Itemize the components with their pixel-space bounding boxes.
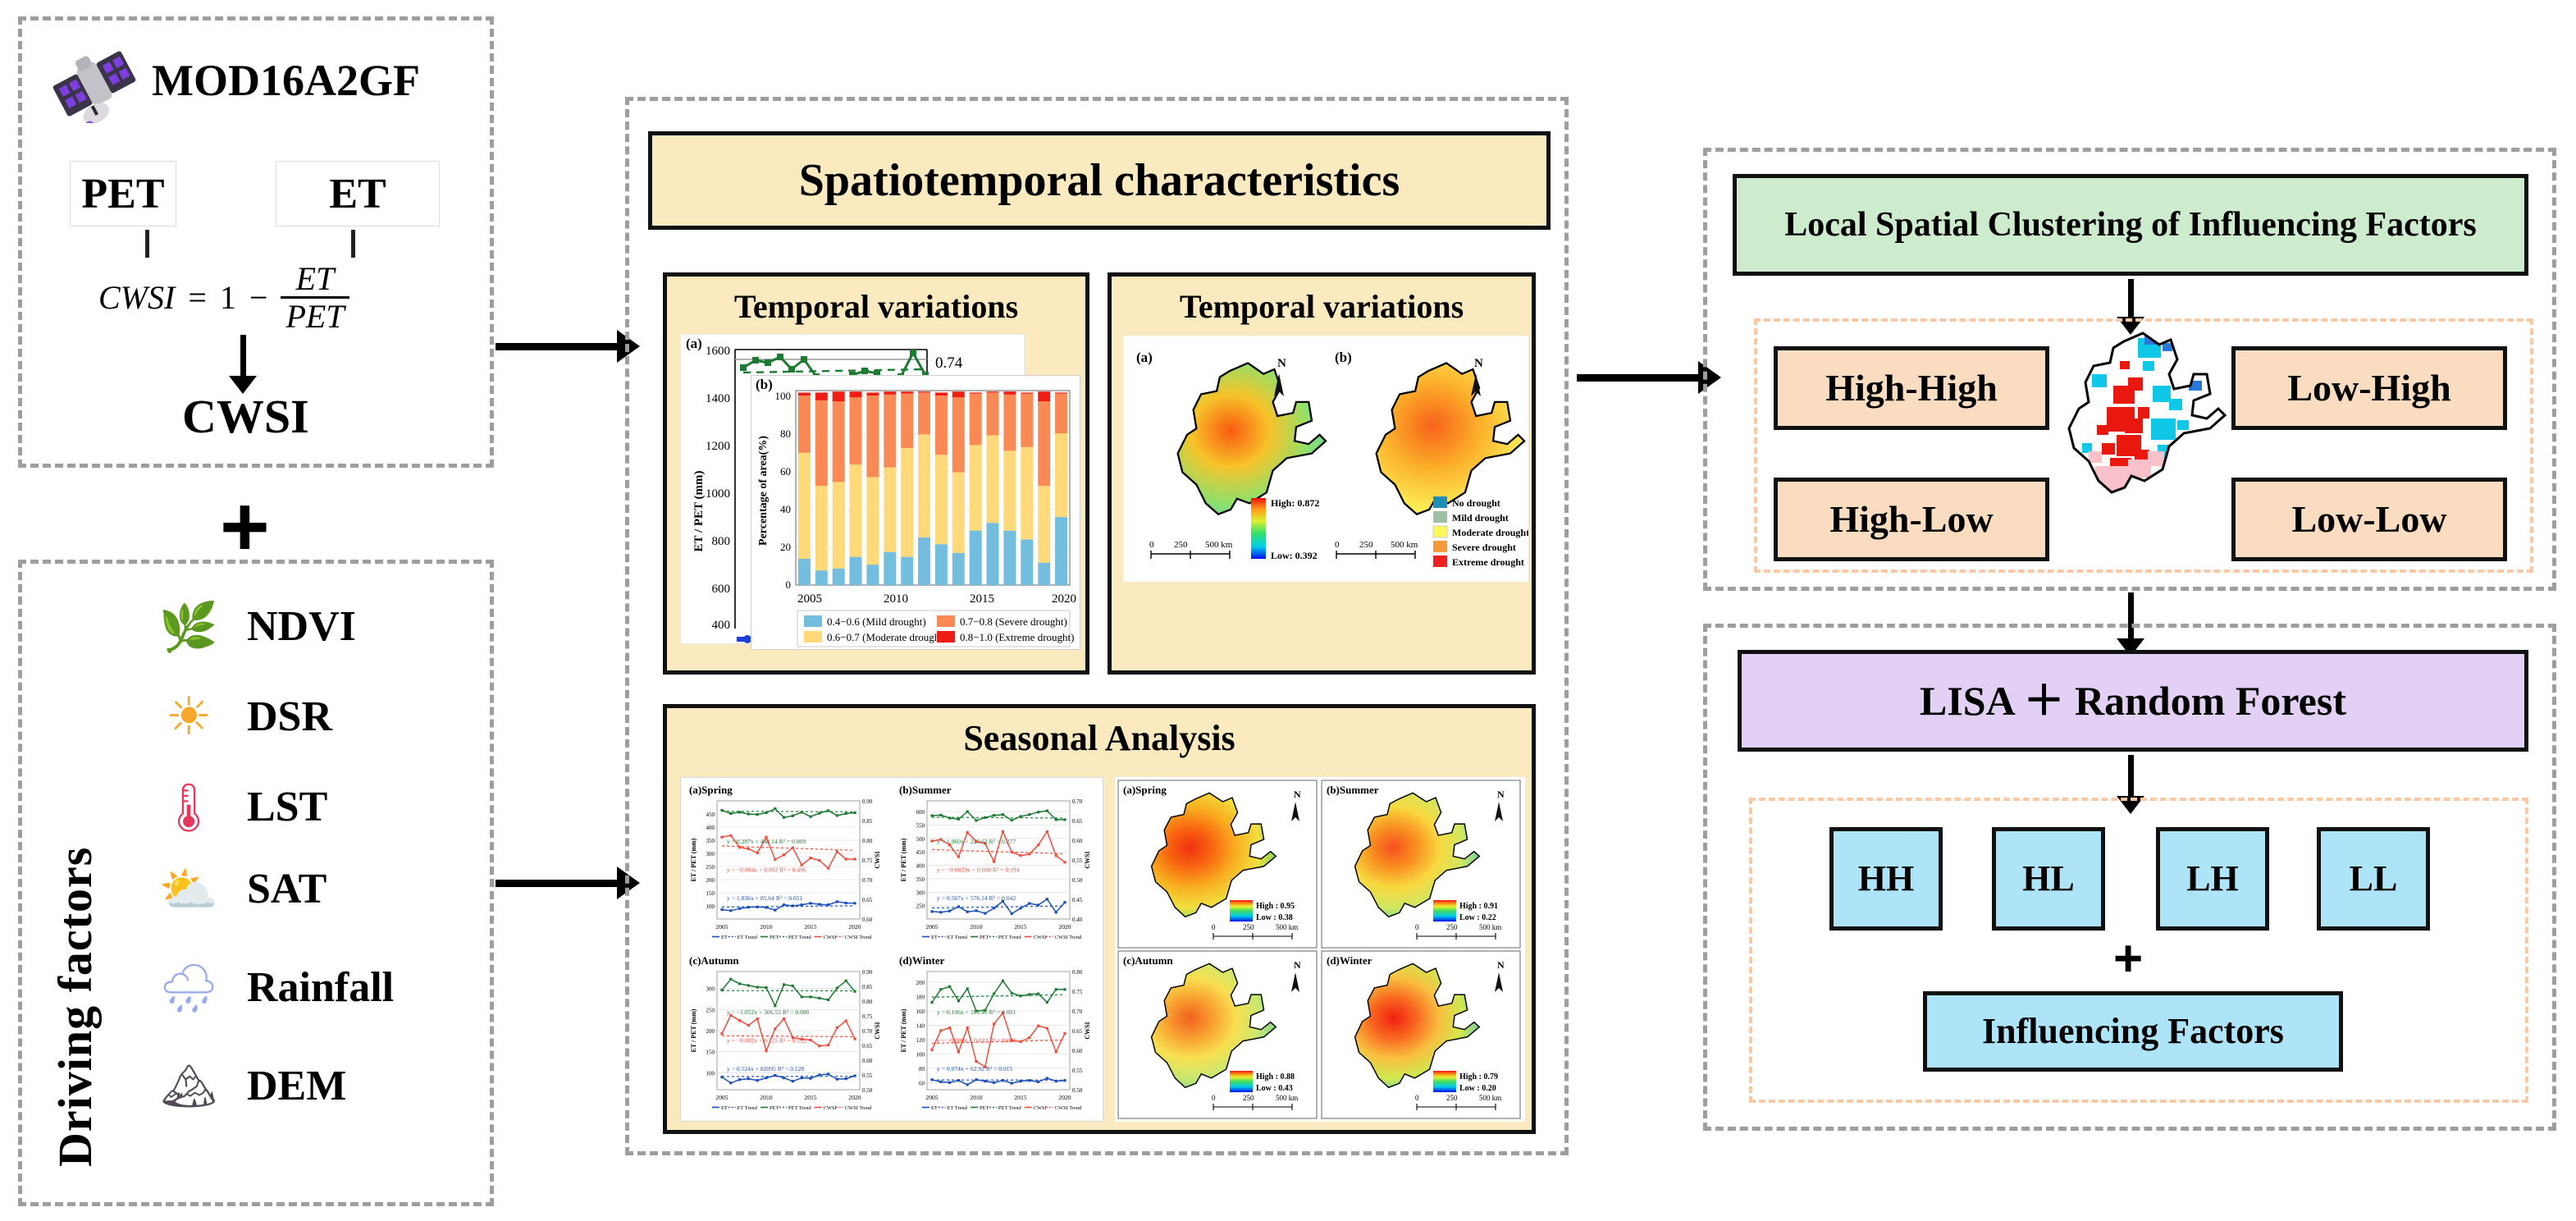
svg-text:PET: PET [770, 935, 779, 940]
formula-one: 1 [220, 278, 236, 317]
svg-text:(a): (a) [1136, 350, 1153, 365]
svg-text:1000: 1000 [706, 487, 730, 501]
quadrant-high-high-label: High-High [1825, 368, 1998, 408]
factor-label-sat: SAT [247, 867, 327, 912]
quadrant-high-low-label: High-Low [1829, 500, 1993, 539]
svg-text:2015: 2015 [1014, 923, 1026, 931]
svg-text:CWSI: CWSI [1034, 1105, 1047, 1111]
svg-text:80: 80 [919, 1066, 925, 1072]
svg-text:2005: 2005 [925, 1094, 938, 1101]
svg-text:CWSI: CWSI [874, 851, 881, 868]
svg-text:600: 600 [712, 583, 731, 596]
svg-text:300: 300 [706, 986, 715, 993]
method-down-arrow [2128, 755, 2134, 798]
svg-text:0: 0 [1212, 1094, 1216, 1102]
svg-text:2015: 2015 [804, 923, 816, 931]
svg-text:PET: PET [980, 935, 989, 940]
arrow-center-to-right [1577, 374, 1700, 382]
svg-text:CWSI: CWSI [824, 935, 837, 940]
svg-text:0.70: 0.70 [862, 877, 873, 884]
svg-text:0.8−1.0 (Extreme drought): 0.8−1.0 (Extreme drought) [960, 631, 1074, 643]
formula-numerator: ET [291, 261, 340, 296]
svg-text:2020: 2020 [848, 1094, 861, 1101]
svg-text:1400: 1400 [706, 392, 730, 405]
et-box: ET [276, 161, 440, 226]
temporal-variations-maps-title: Temporal variations [1112, 290, 1532, 324]
svg-text:0.70: 0.70 [1072, 1008, 1083, 1015]
svg-text:PET: PET [770, 1105, 779, 1111]
svg-text:y = −0.002x + 0.725 R² = 0.122: y = −0.002x + 0.725 R² = 0.122 [727, 1036, 806, 1044]
svg-text:CWSI: CWSI [824, 1105, 837, 1111]
svg-text:200: 200 [706, 877, 715, 884]
svg-text:Severe drought: Severe drought [1452, 542, 1516, 553]
svg-text:20: 20 [780, 541, 791, 553]
svg-text:0.65: 0.65 [862, 897, 873, 903]
svg-text:250: 250 [1243, 1094, 1254, 1102]
svg-text:2010: 2010 [970, 1094, 982, 1101]
svg-text:CWSI Trend: CWSI Trend [845, 1105, 872, 1111]
cwsi-down-arrow [240, 335, 246, 377]
factor-row-dem: 🏔 DEM [152, 1044, 455, 1129]
svg-text:60: 60 [919, 1080, 925, 1086]
method-header: LISA ＋ Random Forest [1738, 650, 2528, 752]
svg-text:ET / PET (mm): ET / PET (mm) [690, 838, 697, 881]
temporal-variations-charts-title: Temporal variations [667, 290, 1085, 324]
rain-cloud-icon: 🌧 [152, 964, 226, 1012]
svg-text:140: 140 [916, 1022, 925, 1029]
svg-text:(c)Autumn: (c)Autumn [1123, 954, 1173, 967]
svg-text:100: 100 [706, 903, 715, 910]
lisa-class-lh-label: LH [2186, 860, 2239, 898]
svg-text:250: 250 [1359, 540, 1373, 550]
factor-row-rainfall: 🌧 Rainfall [152, 945, 480, 1031]
factor-row-sat: ⛅ SAT [152, 847, 455, 932]
svg-text:2010: 2010 [970, 923, 982, 931]
svg-text:y = 0.524x + 82095 R² = 0.128: y = 0.524x + 82095 R² = 0.128 [727, 1065, 804, 1072]
drought-area-stacked-bar-chart: (b) 100 80 60 40 20 0 Percentage of area… [751, 375, 1080, 650]
svg-text:40: 40 [780, 503, 791, 515]
svg-text:400: 400 [706, 825, 715, 831]
svg-text:500 km: 500 km [1391, 540, 1418, 550]
svg-text:CWSI: CWSI [1084, 851, 1091, 868]
svg-text:(d)Winter: (d)Winter [899, 954, 945, 967]
svg-text:2015: 2015 [1014, 1094, 1026, 1101]
arrow-cwsi-to-center [496, 343, 619, 350]
svg-text:100: 100 [916, 1051, 925, 1058]
svg-text:CWSI: CWSI [874, 1022, 881, 1039]
et-connector [351, 230, 355, 258]
svg-text:1600: 1600 [706, 345, 730, 358]
svg-text:300: 300 [706, 851, 715, 857]
spatiotemporal-header: Spatiotemporal characteristics [648, 131, 1551, 230]
svg-text:500 km: 500 km [1276, 1094, 1298, 1102]
svg-text:500 km: 500 km [1276, 923, 1298, 931]
svg-text:CWSI: CWSI [1034, 935, 1047, 940]
svg-text:2020: 2020 [1052, 592, 1076, 606]
svg-text:600: 600 [916, 809, 925, 816]
svg-text:250: 250 [706, 864, 715, 871]
svg-text:400: 400 [712, 619, 731, 632]
svg-text:150: 150 [706, 890, 715, 897]
svg-text:(b)Summer: (b)Summer [1327, 784, 1379, 796]
temporal-variations-charts-card: Temporal variations (a) 1600 1400 1200 1… [663, 272, 1089, 675]
svg-text:2010: 2010 [884, 592, 908, 606]
svg-text:(d)Winter: (d)Winter [1327, 954, 1372, 967]
svg-text:0.55: 0.55 [862, 1072, 873, 1079]
lisa-class-hh-label: HH [1858, 860, 1914, 898]
svg-text:ET: ET [721, 1105, 728, 1111]
svg-text:100: 100 [706, 1070, 715, 1077]
svg-text:CWSI Trend: CWSI Trend [1055, 935, 1082, 940]
svg-text:500 km: 500 km [1479, 1094, 1501, 1102]
svg-text:0.90: 0.90 [862, 798, 873, 805]
lisa-class-lh: LH [2156, 827, 2269, 931]
svg-text:N: N [1474, 357, 1483, 370]
temporal-variations-maps-card: Temporal variations [1108, 272, 1536, 675]
clustering-down-arrow [2128, 279, 2134, 318]
svg-text:0.50: 0.50 [862, 1087, 873, 1094]
svg-text:2005: 2005 [715, 1094, 728, 1101]
svg-text:ET / PET (mm): ET / PET (mm) [900, 838, 907, 881]
pet-label: PET [81, 170, 164, 218]
svg-text:0.70: 0.70 [862, 1028, 873, 1035]
pet-box: PET [70, 161, 176, 226]
influencing-factors-box: Influencing Factors [1923, 991, 2343, 1072]
formula-minus: − [249, 278, 268, 317]
svg-text:High : 0.95: High : 0.95 [1256, 902, 1295, 911]
svg-text:0: 0 [1212, 923, 1216, 931]
lisa-class-hh: HH [1829, 827, 1943, 931]
quadrant-low-low: Low-Low [2231, 478, 2507, 561]
svg-text:200: 200 [706, 1028, 715, 1035]
svg-text:y = −1.052x + 306.55 R² = 0.08: y = −1.052x + 306.55 R² = 0.080 [727, 1008, 810, 1016]
lisa-plus: + [2113, 934, 2143, 985]
svg-text:Low: 0.392: Low: 0.392 [1271, 550, 1318, 561]
svg-text:0.80: 0.80 [1072, 969, 1083, 976]
svg-text:0.74: 0.74 [935, 354, 963, 372]
svg-text:(a)Spring: (a)Spring [1123, 784, 1167, 796]
svg-text:y = 0.074x + 62.92 R² = 0.015: y = 0.074x + 62.92 R² = 0.015 [937, 1065, 1013, 1072]
data-source-label: MOD16A2GF [152, 57, 420, 104]
formula-lhs: CWSI [98, 278, 175, 317]
svg-text:ET: ET [931, 935, 938, 940]
svg-text:100: 100 [775, 390, 792, 402]
svg-text:450: 450 [916, 849, 925, 856]
svg-text:2005: 2005 [715, 923, 728, 931]
svg-text:0: 0 [1415, 923, 1419, 931]
svg-text:500: 500 [916, 836, 925, 843]
svg-text:High : 0.79: High : 0.79 [1459, 1072, 1498, 1082]
svg-text:(b)Summer: (b)Summer [899, 784, 952, 796]
svg-text:No drought: No drought [1452, 497, 1500, 509]
svg-text:800: 800 [712, 535, 731, 548]
svg-text:500 km: 500 km [1479, 923, 1501, 931]
svg-text:250: 250 [1446, 1094, 1458, 1102]
svg-text:CWSI Trend: CWSI Trend [1055, 1105, 1082, 1111]
svg-text:2020: 2020 [1058, 1094, 1071, 1101]
cwsi-output-label: CWSI [182, 392, 309, 442]
svg-text:0.90: 0.90 [862, 969, 873, 976]
factor-row-ndvi: 🌿 NDVI [152, 584, 455, 670]
svg-text:y = 0.287x + 448.14 R² = 0.009: y = 0.287x + 448.14 R² = 0.009 [727, 838, 806, 845]
svg-text:N: N [1294, 789, 1301, 800]
svg-text:High : 0.91: High : 0.91 [1459, 902, 1498, 911]
svg-text:PET Trend: PET Trend [998, 935, 1022, 940]
svg-text:PET Trend: PET Trend [788, 1105, 812, 1111]
lisa-cluster-map [2046, 328, 2243, 566]
factor-label-dsr: DSR [247, 695, 332, 740]
svg-text:2020: 2020 [1058, 923, 1071, 931]
svg-text:N: N [1497, 959, 1505, 971]
svg-text:1200: 1200 [706, 440, 730, 453]
svg-text:2015: 2015 [970, 592, 994, 606]
svg-text:0.85: 0.85 [862, 984, 873, 990]
svg-text:y = 1.836x + 85.64 R² = 0.651: y = 1.836x + 85.64 R² = 0.651 [727, 894, 803, 902]
lisa-class-hl-label: HL [2022, 860, 2075, 898]
svg-text:2015: 2015 [804, 1094, 816, 1101]
svg-text:0.75: 0.75 [1072, 989, 1083, 995]
combine-plus: + [220, 484, 270, 569]
svg-text:N: N [1277, 357, 1286, 370]
clustering-header: Local Spatial Clustering of Influencing … [1733, 174, 2528, 276]
formula-equals: = [188, 278, 207, 317]
svg-text:0.70: 0.70 [1072, 798, 1083, 805]
lisa-class-hl: HL [1992, 827, 2105, 931]
svg-text:y = 0.567x + 576.14 R² = 0.042: y = 0.567x + 576.14 R² = 0.042 [937, 894, 1016, 902]
factor-row-dsr: ☀ DSR [152, 675, 455, 760]
svg-text:0: 0 [786, 578, 792, 591]
svg-text:Low : 0.43: Low : 0.43 [1256, 1084, 1293, 1093]
svg-text:2010: 2010 [760, 1094, 772, 1101]
svg-text:0: 0 [1335, 540, 1340, 550]
svg-text:0.55: 0.55 [1072, 1068, 1083, 1074]
svg-text:0.45: 0.45 [1072, 897, 1083, 903]
svg-text:Low : 0.22: Low : 0.22 [1459, 913, 1496, 922]
sun-icon: ☀ [152, 691, 226, 743]
svg-text:250: 250 [1446, 923, 1458, 931]
svg-text:Mild drought: Mild drought [1452, 512, 1509, 524]
driving-factors-title: Driving factors [51, 609, 101, 1167]
svg-text:300: 300 [916, 889, 925, 896]
temporal-maps-figure: (a) N 0250500 km High: 0.872 Low: 0.392 … [1123, 336, 1528, 582]
svg-text:200: 200 [916, 980, 925, 986]
svg-text:ET / PET (mm): ET / PET (mm) [690, 1008, 697, 1052]
svg-text:Moderate drought: Moderate drought [1452, 527, 1528, 538]
svg-text:0.85: 0.85 [862, 818, 873, 825]
svg-text:0.60: 0.60 [1072, 838, 1083, 844]
quadrant-low-high: Low-High [2231, 346, 2507, 430]
influencing-factors-label: Influencing Factors [1982, 1013, 2284, 1050]
svg-text:350: 350 [916, 876, 925, 883]
seasonal-maps-figure: (a)SpringNHigh : 0.95Low : 0.380250500 k… [1115, 777, 1525, 1122]
svg-text:y = −0.000x + 0.633 R² = 0.001: y = −0.000x + 0.633 R² = 0.001 [937, 1036, 1016, 1044]
svg-text:250: 250 [1174, 540, 1188, 550]
spatiotemporal-header-label: Spatiotemporal characteristics [799, 157, 1400, 205]
thermometer-icon: 🌡 [152, 784, 226, 831]
factor-label-ndvi: NDVI [247, 605, 356, 650]
svg-text:0.4−0.6 (Mild drought): 0.4−0.6 (Mild drought) [827, 615, 926, 628]
seasonal-trend-charts: (a)Spring1001502002503003504004500.600.6… [680, 777, 1103, 1122]
quadrant-high-low: High-Low [1774, 478, 2049, 561]
svg-text:Low : 0.38: Low : 0.38 [1256, 913, 1293, 922]
quadrant-low-low-label: Low-Low [2291, 500, 2446, 539]
svg-text:0.7−0.8 (Severe drought): 0.7−0.8 (Severe drought) [960, 615, 1067, 628]
svg-text:0.80: 0.80 [862, 838, 873, 844]
svg-text:PET: PET [980, 1105, 989, 1111]
formula-denominator: PET [281, 299, 349, 334]
svg-text:120: 120 [916, 1037, 925, 1044]
et-label: ET [329, 170, 386, 218]
factor-label-lst: LST [247, 785, 327, 830]
svg-text:0.55: 0.55 [1072, 857, 1083, 864]
svg-text:High: 0.872: High: 0.872 [1271, 497, 1319, 509]
svg-text:0.50: 0.50 [1072, 877, 1083, 884]
svg-text:(a)Spring: (a)Spring [689, 784, 733, 796]
svg-text:ET Trend: ET Trend [738, 1105, 758, 1111]
svg-text:0: 0 [1149, 540, 1154, 550]
svg-text:y = 1.960x + 223.62 R² = 0.277: y = 1.960x + 223.62 R² = 0.277 [937, 838, 1016, 845]
svg-text:0.40: 0.40 [1072, 917, 1083, 923]
pet-connector [145, 230, 149, 258]
svg-text:High : 0.88: High : 0.88 [1256, 1072, 1295, 1082]
svg-text:0: 0 [1415, 1094, 1419, 1102]
herb-leaf-icon: 🌿 [152, 603, 226, 651]
svg-text:2005: 2005 [797, 592, 822, 606]
svg-text:450: 450 [706, 812, 715, 818]
svg-text:0.6−0.7 (Moderate drought): 0.6−0.7 (Moderate drought) [827, 631, 946, 643]
satellite-icon [49, 45, 139, 123]
svg-text:400: 400 [916, 863, 925, 870]
svg-text:Low : 0.20: Low : 0.20 [1459, 1084, 1496, 1093]
arrow-factors-to-center [496, 880, 619, 887]
svg-text:180: 180 [916, 995, 925, 1001]
chart-b-panel-label: (b) [756, 377, 773, 392]
svg-text:Extreme drought: Extreme drought [1452, 556, 1524, 568]
svg-text:ET / PET (mm): ET / PET (mm) [692, 470, 706, 551]
svg-text:0.50: 0.50 [1072, 1087, 1083, 1094]
svg-text:0.65: 0.65 [862, 1043, 873, 1050]
svg-text:N: N [1497, 789, 1505, 800]
svg-text:550: 550 [916, 822, 925, 829]
factor-label-rainfall: Rainfall [247, 966, 394, 1011]
svg-text:80: 80 [780, 428, 791, 440]
svg-text:ET / PET (mm): ET / PET (mm) [900, 1008, 907, 1052]
svg-text:0.65: 0.65 [1072, 1028, 1083, 1035]
svg-text:PET Trend: PET Trend [788, 935, 812, 940]
svg-text:250: 250 [1243, 923, 1254, 931]
sun-behind-cloud-icon: ⛅ [152, 866, 226, 913]
svg-text:160: 160 [916, 1008, 925, 1015]
svg-text:500 km: 500 km [1205, 540, 1233, 550]
svg-text:ET Trend: ET Trend [948, 935, 968, 940]
svg-text:150: 150 [706, 1050, 715, 1056]
svg-text:0.60: 0.60 [1072, 1048, 1083, 1054]
svg-text:0.75: 0.75 [862, 857, 873, 864]
svg-text:N: N [1294, 959, 1301, 971]
svg-text:y = −0.004x + 0.802 R² = 0.496: y = −0.004x + 0.802 R² = 0.496 [727, 866, 806, 873]
svg-text:60: 60 [780, 465, 791, 478]
svg-text:2020: 2020 [848, 923, 861, 931]
quadrant-low-high-label: Low-High [2287, 368, 2450, 408]
svg-text:2005: 2005 [925, 923, 938, 931]
factor-row-lst: 🌡 LST [152, 765, 455, 850]
quadrant-high-high: High-High [1774, 346, 2049, 430]
clustering-header-label: Local Spatial Clustering of Influencing … [1771, 207, 2490, 243]
svg-text:ET: ET [931, 1105, 938, 1111]
svg-text:y = 0.106x + 181.46 R² = 0.001: y = 0.106x + 181.46 R² = 0.001 [937, 1008, 1016, 1016]
factor-label-dem: DEM [247, 1064, 346, 1109]
svg-text:ET: ET [721, 935, 728, 940]
svg-text:0.75: 0.75 [862, 1013, 873, 1020]
mountain-icon: 🏔 [152, 1064, 226, 1109]
svg-text:Percentage of area(%): Percentage of area(%) [757, 436, 770, 546]
lisa-class-ll: LL [2317, 827, 2430, 931]
lisa-class-ll-label: LL [2350, 860, 2398, 898]
svg-text:(c)Autumn: (c)Autumn [689, 954, 739, 967]
method-header-label: LISA ＋ Random Forest [1920, 679, 2346, 723]
seasonal-analysis-title: Seasonal Analysis [667, 720, 1532, 757]
seasonal-analysis-card: Seasonal Analysis (a)Spring1001502002503… [663, 704, 1536, 1134]
svg-text:250: 250 [706, 1007, 715, 1013]
cwsi-formula: CWSI = 1 − ET PET [98, 261, 349, 334]
svg-text:CWSI Trend: CWSI Trend [845, 935, 872, 940]
svg-text:250: 250 [916, 903, 925, 910]
svg-text:0.60: 0.60 [862, 917, 873, 923]
svg-text:CWSI: CWSI [1084, 1022, 1091, 1039]
svg-text:y = −0.0029x + 0.608 R² = 0.19: y = −0.0029x + 0.608 R² = 0.194 [937, 866, 1020, 873]
svg-text:2010: 2010 [760, 923, 772, 931]
svg-text:ET Trend: ET Trend [738, 935, 758, 940]
svg-text:350: 350 [706, 838, 715, 844]
svg-text:ET Trend: ET Trend [948, 1105, 968, 1111]
svg-text:0.65: 0.65 [1072, 818, 1083, 825]
svg-text:0.80: 0.80 [862, 999, 873, 1005]
svg-text:0.60: 0.60 [862, 1058, 873, 1064]
svg-text:PET Trend: PET Trend [998, 1105, 1022, 1111]
svg-text:(b): (b) [1335, 350, 1352, 365]
chart-a-panel-label: (a) [686, 336, 702, 351]
